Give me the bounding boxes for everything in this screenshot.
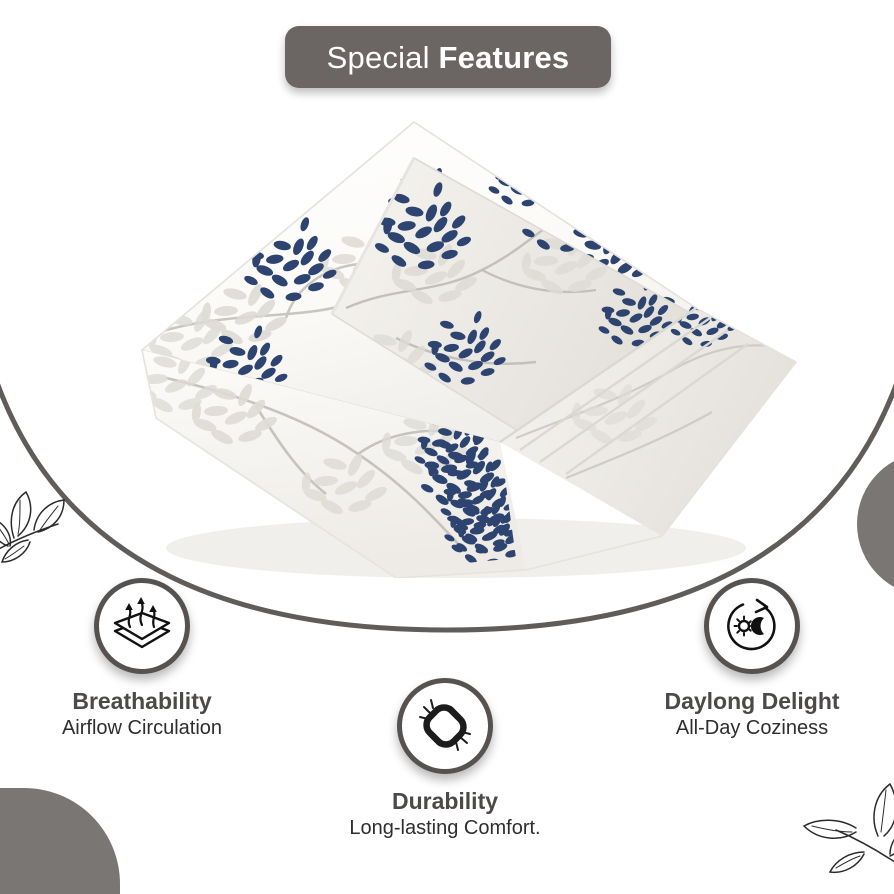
right-leaf-sprig [786, 770, 894, 880]
page-title: Special Features [327, 42, 570, 73]
feature-title: Breathability [2, 688, 282, 714]
feature-title: Daylong Delight [612, 688, 892, 714]
feature-title: Durability [305, 788, 585, 814]
feature-durability: Durability Long-lasting Comfort. [305, 678, 585, 840]
feature-breathability: Breathability Airflow Circulation [2, 578, 282, 740]
left-leaf-sprig [0, 476, 104, 571]
chain-link-icon [397, 678, 493, 774]
feature-daylong-delight: Daylong Delight All-Day Coziness [612, 578, 892, 740]
right-edge-blob [857, 452, 894, 596]
product-photo [96, 118, 802, 578]
feature-subtitle: All-Day Coziness [612, 716, 892, 740]
page-title-bold: Features [439, 40, 570, 75]
page-title-light: Special [327, 40, 430, 75]
special-features-banner: Special Features [285, 26, 611, 88]
sun-moon-cycle-icon [704, 578, 800, 674]
feature-subtitle: Long-lasting Comfort. [305, 816, 585, 840]
breathable-layers-icon [94, 578, 190, 674]
feature-subtitle: Airflow Circulation [2, 716, 282, 740]
bottom-left-blob [0, 788, 120, 894]
infographic-canvas: Special Features [0, 0, 894, 894]
